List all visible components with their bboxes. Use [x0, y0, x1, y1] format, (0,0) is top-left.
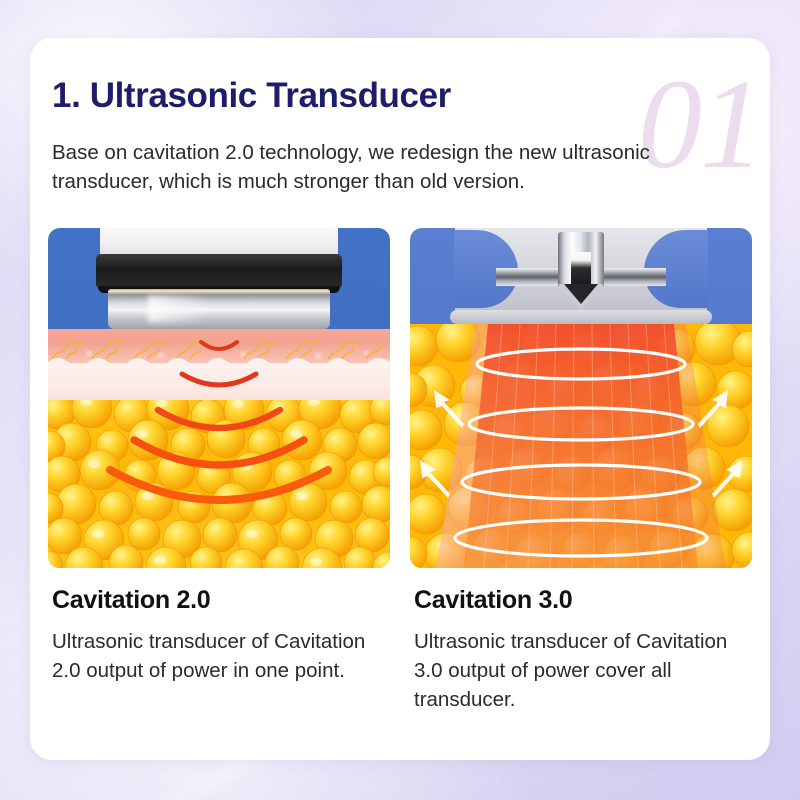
content-card: 01 1. Ultrasonic Transducer Base on cavi… — [30, 38, 770, 760]
expansion-arrows-icon — [410, 324, 752, 568]
cavitation-2-diagram — [48, 228, 390, 568]
page-title: 1. Ultrasonic Transducer — [52, 76, 451, 116]
panel-title: Cavitation 3.0 — [414, 586, 752, 615]
panel-description: Ultrasonic transducer of Cavitation 3.0 … — [414, 627, 752, 714]
acoustic-wave-arcs-icon — [48, 324, 390, 514]
housing-flange — [450, 310, 712, 324]
transducer-bar-left — [496, 268, 562, 286]
panel-description: Ultrasonic transducer of Cavitation 2.0 … — [52, 627, 390, 685]
transducer-probe — [558, 232, 604, 286]
comparison-panels: Cavitation 2.0 Ultrasonic transducer of … — [48, 228, 752, 714]
transducer-bar-right — [600, 268, 666, 286]
page-subtitle: Base on cavitation 2.0 technology, we re… — [52, 138, 752, 196]
device-rubber-ring — [96, 254, 342, 288]
panel-cavitation-2: Cavitation 2.0 Ultrasonic transducer of … — [48, 228, 390, 714]
probe-tip — [558, 284, 604, 310]
panel-cavitation-3: Cavitation 3.0 Ultrasonic transducer of … — [410, 228, 752, 714]
cavitation-3-diagram — [410, 228, 752, 568]
device-chrome-head — [108, 289, 330, 329]
panel-title: Cavitation 2.0 — [52, 586, 390, 615]
